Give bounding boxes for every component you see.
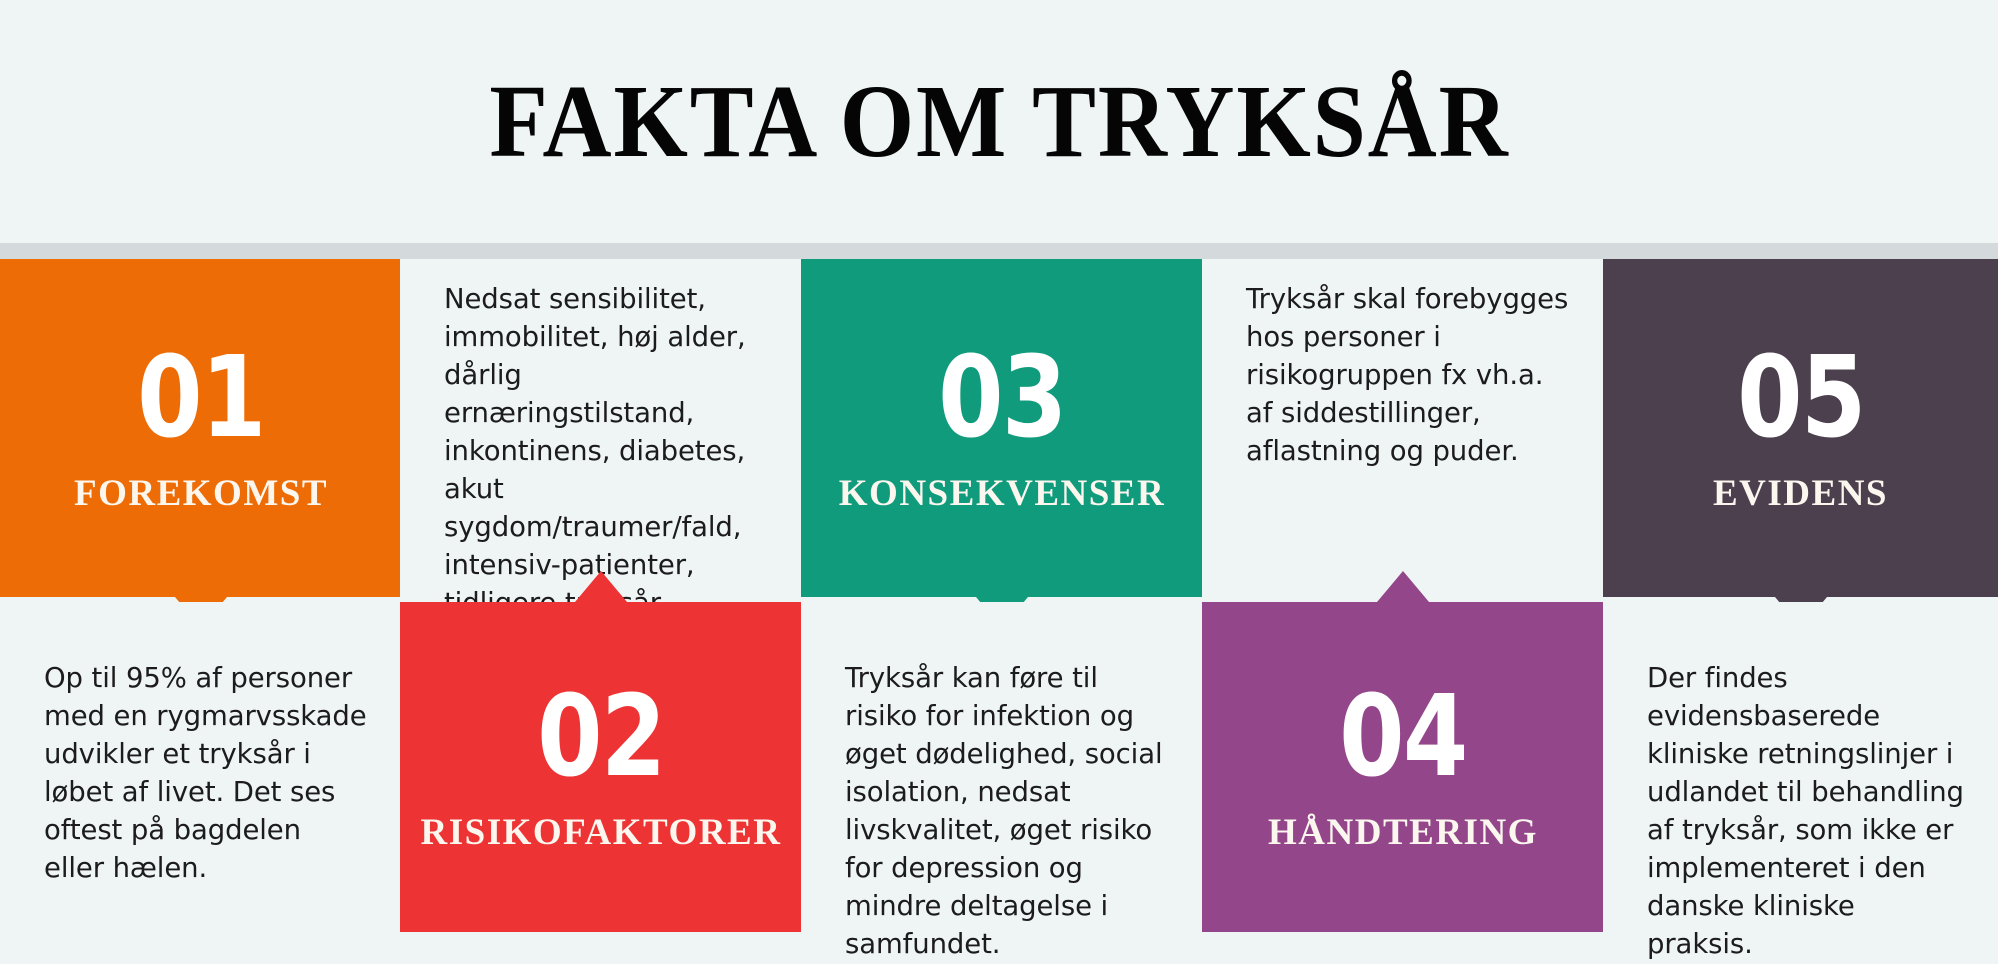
step-label: KONSEKVENSER [839,472,1165,515]
number-panel-01: 01 FOREKOMST [0,259,402,597]
fact-text: Tryksår kan føre til risiko for infektio… [845,660,1169,964]
arrow-up-icon [1377,571,1429,602]
column-evidens: 05 EVIDENS Der findes evidensbaserede kl… [1603,259,1998,932]
step-number: 05 [1737,342,1865,454]
cell-forekomst-text: Op til 95% af personer med en rygmarvssk… [0,602,402,932]
cell-handtering-panel[interactable]: 04 HÅNDTERING [1202,602,1604,932]
cell-forekomst-panel[interactable]: 01 FOREKOMST [0,259,402,597]
text-panel: Nedsat sensibilitet, immobilitet, høj al… [400,259,802,597]
step-label: RISIKOFAKTORER [421,811,782,854]
column-forekomst: 01 FOREKOMST Op til 95% af personer med … [0,259,402,932]
number-panel-04: 04 HÅNDTERING [1202,602,1604,932]
step-number: 03 [938,342,1066,454]
cell-handtering-text: Tryksår skal forebygges hos personer i r… [1202,259,1604,597]
fact-text: Tryksår skal forebygges hos personer i r… [1246,281,1570,471]
cell-evidens-text: Der findes evidensbaserede kliniske retn… [1603,602,1998,932]
fact-text: Op til 95% af personer med en rygmarvssk… [44,660,368,888]
step-label: EVIDENS [1713,472,1888,515]
cell-konsekvenser-panel[interactable]: 03 KONSEKVENSER [801,259,1203,597]
cell-risikofaktorer-text: Nedsat sensibilitet, immobilitet, høj al… [400,259,802,597]
step-label: HÅNDTERING [1268,811,1538,854]
column-risikofaktorer: Nedsat sensibilitet, immobilitet, høj al… [400,259,802,932]
header-divider-band [0,243,1998,259]
page-title: FAKTA OM TRYKSÅR [489,70,1509,174]
step-number: 04 [1339,681,1467,793]
column-konsekvenser: 03 KONSEKVENSER Tryksår kan føre til ris… [801,259,1203,932]
cell-konsekvenser-text: Tryksår kan føre til risiko for infektio… [801,602,1203,932]
text-panel: Der findes evidensbaserede kliniske retn… [1603,602,1998,932]
column-handtering: Tryksår skal forebygges hos personer i r… [1202,259,1604,932]
cell-evidens-panel[interactable]: 05 EVIDENS [1603,259,1998,597]
text-panel: Tryksår kan føre til risiko for infektio… [801,602,1203,932]
number-panel-03: 03 KONSEKVENSER [801,259,1203,597]
number-panel-02: 02 RISIKOFAKTORER [400,602,802,932]
cell-risikofaktorer-panel[interactable]: 02 RISIKOFAKTORER [400,602,802,932]
step-number: 02 [537,681,665,793]
facts-grid: 01 FOREKOMST Op til 95% af personer med … [0,259,1998,932]
text-panel: Op til 95% af personer med en rygmarvssk… [0,602,402,932]
header-banner: FAKTA OM TRYKSÅR [0,0,1998,243]
step-label: FOREKOMST [74,472,328,515]
arrow-up-icon [575,571,627,602]
number-panel-05: 05 EVIDENS [1603,259,1998,597]
text-panel: Tryksår skal forebygges hos personer i r… [1202,259,1604,597]
fact-text: Der findes evidensbaserede kliniske retn… [1647,660,1964,964]
step-number: 01 [137,342,265,454]
